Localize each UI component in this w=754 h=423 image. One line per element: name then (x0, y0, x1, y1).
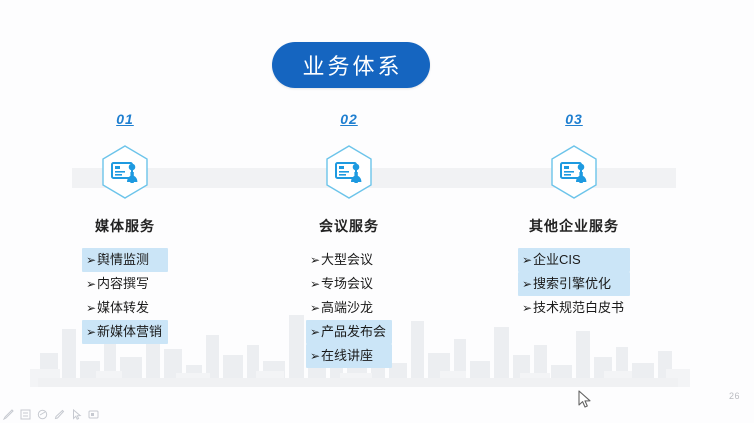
screen-icon[interactable] (87, 408, 100, 421)
page-title: 业务体系 (299, 49, 402, 81)
column-items-3: ➢企业CIS ➢搜索引擎优化 ➢技术规范白皮书 (474, 248, 674, 320)
presentation-person-icon (25, 144, 225, 200)
list-item-label: 在线讲座 (321, 348, 373, 363)
column-number-1: 01 (25, 110, 225, 128)
list-item[interactable]: ➢舆情监测 (82, 248, 168, 272)
column-items-1: ➢舆情监测 ➢内容撰写 ➢媒体转发 ➢新媒体营销 (25, 248, 225, 344)
list-item[interactable]: ➢专场会议 (306, 272, 392, 296)
page-number: 26 (729, 391, 740, 401)
bullet-marker-icon: ➢ (86, 325, 96, 339)
presentation-person-icon (474, 144, 674, 200)
column-title-2: 会议服务 (249, 216, 449, 236)
list-item-label: 高端沙龙 (321, 300, 373, 315)
list-item-label: 产品发布会 (321, 324, 386, 339)
bullet-marker-icon: ➢ (86, 277, 96, 291)
pen-icon[interactable] (2, 408, 15, 421)
list-item[interactable]: ➢高端沙龙 (306, 296, 392, 320)
list-item-label: 技术规范白皮书 (533, 300, 624, 315)
list-item[interactable]: ➢内容撰写 (82, 272, 168, 296)
presentation-person-icon (249, 144, 449, 200)
pointer-icon[interactable] (70, 408, 83, 421)
bullet-marker-icon: ➢ (310, 301, 320, 315)
list-item[interactable]: ➢产品发布会 (306, 320, 392, 344)
highlighter-icon[interactable] (36, 408, 49, 421)
list-item[interactable]: ➢大型会议 (306, 248, 392, 272)
service-column-2: 02 会议服务 ➢大型会议 ➢专场会议 ➢高端沙龙 ➢产品发布会 ➢在线讲座 (249, 110, 449, 368)
bullet-marker-icon: ➢ (310, 349, 320, 363)
list-item-label: 媒体转发 (97, 300, 149, 315)
bullet-marker-icon: ➢ (522, 301, 532, 315)
slide-canvas: 业务体系 01 媒体服务 ➢舆情监测 ➢内容撰写 ➢媒体转发 ➢新媒体 (0, 0, 754, 423)
column-number-3: 03 (474, 110, 674, 128)
bullet-marker-icon: ➢ (310, 277, 320, 291)
list-item[interactable]: ➢企业CIS (518, 248, 630, 272)
list-item-label: 内容撰写 (97, 276, 149, 291)
list-item-label: 大型会议 (321, 252, 373, 267)
pencil-icon[interactable] (53, 408, 66, 421)
list-item[interactable]: ➢新媒体营销 (82, 320, 168, 344)
eraser-panel-icon[interactable] (19, 408, 32, 421)
bullet-marker-icon: ➢ (310, 325, 320, 339)
bullet-marker-icon: ➢ (522, 253, 532, 267)
column-title-1: 媒体服务 (25, 216, 225, 236)
list-item-label: 新媒体营销 (97, 324, 162, 339)
list-item-label: 搜索引擎优化 (533, 276, 611, 291)
presenter-toolbar[interactable] (2, 408, 100, 421)
mouse-cursor (578, 390, 592, 410)
column-number-2: 02 (249, 110, 449, 128)
bullet-marker-icon: ➢ (522, 277, 532, 291)
slide-title-pill: 业务体系 (272, 42, 430, 88)
column-title-3: 其他企业服务 (474, 216, 674, 236)
list-item-label: 舆情监测 (97, 252, 149, 267)
list-item-label: 企业CIS (533, 252, 581, 267)
bullet-marker-icon: ➢ (86, 253, 96, 267)
bullet-marker-icon: ➢ (310, 253, 320, 267)
column-items-2: ➢大型会议 ➢专场会议 ➢高端沙龙 ➢产品发布会 ➢在线讲座 (249, 248, 449, 368)
ground-bar (38, 378, 678, 387)
service-column-3: 03 其他企业服务 ➢企业CIS ➢搜索引擎优化 ➢技术规范白皮书 (474, 110, 674, 320)
list-item-label: 专场会议 (321, 276, 373, 291)
list-item[interactable]: ➢技术规范白皮书 (518, 296, 630, 320)
list-item[interactable]: ➢搜索引擎优化 (518, 272, 630, 296)
list-item[interactable]: ➢媒体转发 (82, 296, 168, 320)
list-item[interactable]: ➢在线讲座 (306, 344, 392, 368)
service-column-1: 01 媒体服务 ➢舆情监测 ➢内容撰写 ➢媒体转发 ➢新媒体营销 (25, 110, 225, 344)
bullet-marker-icon: ➢ (86, 301, 96, 315)
